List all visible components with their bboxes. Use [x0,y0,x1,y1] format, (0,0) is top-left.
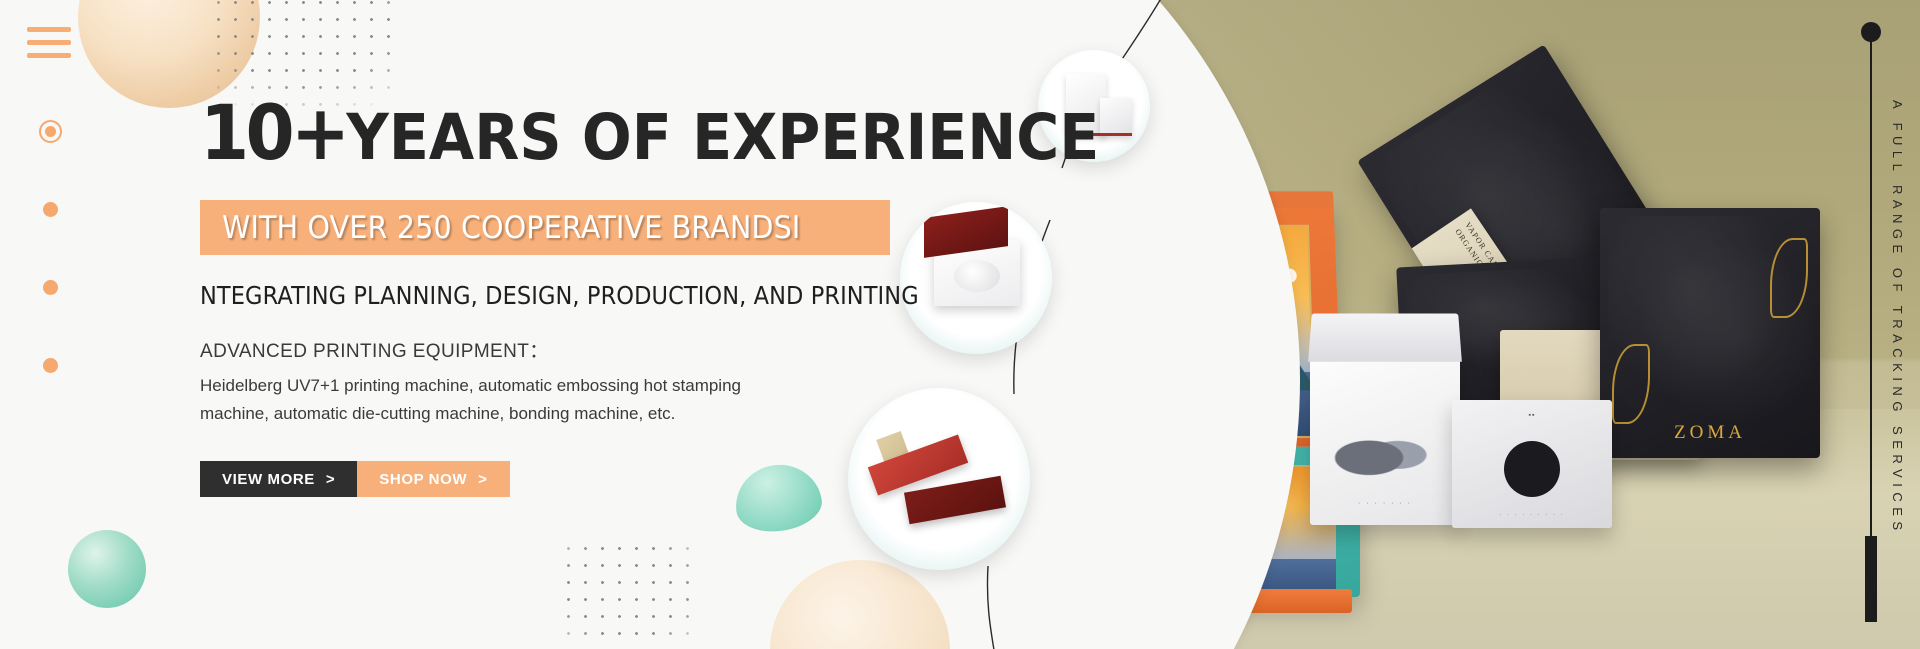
hamburger-menu-icon[interactable] [27,27,71,58]
dot-pattern-decoration [560,540,690,649]
black-circle-graphic [1504,441,1560,497]
view-more-button[interactable]: VIEW MORE > [200,461,357,497]
menu-bar [27,40,71,45]
vertical-rail-text: A FULL RANGE OF TRACKING SERVICES [1890,100,1905,536]
dot-core [45,126,56,137]
slider-dot[interactable] [43,202,58,217]
zoma-brand-label: ZOMA [1600,422,1820,444]
green-sphere-decoration [68,530,146,608]
slider-dot-rail[interactable] [39,120,62,436]
box-caption: · · · · · · · [1310,500,1460,507]
vertical-service-rail: A FULL RANGE OF TRACKING SERVICES [1856,22,1886,622]
sub-banner: WITH OVER 250 COOPERATIVE BRANDSI [200,200,890,255]
hero-text-block: 10+YEARS OF EXPERIENCE WITH OVER 250 COO… [200,95,940,497]
cta-group: VIEW MORE > SHOP NOW > [200,461,940,497]
slider-dot-active[interactable] [39,120,62,143]
sub-banner-text: WITH OVER 250 COOPERATIVE BRANDSI [200,210,801,246]
insert-disc [954,260,1000,292]
view-more-label: VIEW MORE [222,471,315,488]
menu-bar [27,53,71,58]
figure-illustration [1332,423,1438,481]
slider-dot[interactable] [43,358,58,373]
shop-now-label: SHOP NOW [379,471,467,488]
rail-line [1870,34,1872,536]
headline-number: 10+ [200,88,346,177]
chevron-right-icon: > [326,471,335,488]
grey-circle-box: ▪▪ · · · · · · · · · [1452,400,1612,528]
headline-rest: YEARS OF EXPERIENCE [346,101,1099,174]
page-title: 10+YEARS OF EXPERIENCE [200,95,888,171]
equipment-title: ADVANCED PRINTING EQUIPMENT： [200,336,940,363]
hero-banner: ZOMA VAPOR CARTRIDGE · ORGANIC · GELATO … [0,0,1920,649]
white-illustrated-box: · · · · · · · [1310,355,1460,525]
tagline: NTEGRATING PLANNING, DESIGN, PRODUCTION,… [200,281,866,310]
zoma-box-front: ZOMA [1600,208,1820,458]
chevron-right-icon: > [478,471,487,488]
box-caption: · · · · · · · · · [1452,512,1612,518]
white-box-short [1100,98,1132,136]
equipment-body: Heidelberg UV7+1 printing machine, autom… [200,372,800,427]
box-flap [1308,313,1462,361]
slider-dot[interactable] [43,280,58,295]
rail-bar [1865,536,1877,622]
menu-bar [27,27,71,32]
shop-now-button[interactable]: SHOP NOW > [357,461,509,497]
box-top-mark: ▪▪ [1452,412,1612,419]
